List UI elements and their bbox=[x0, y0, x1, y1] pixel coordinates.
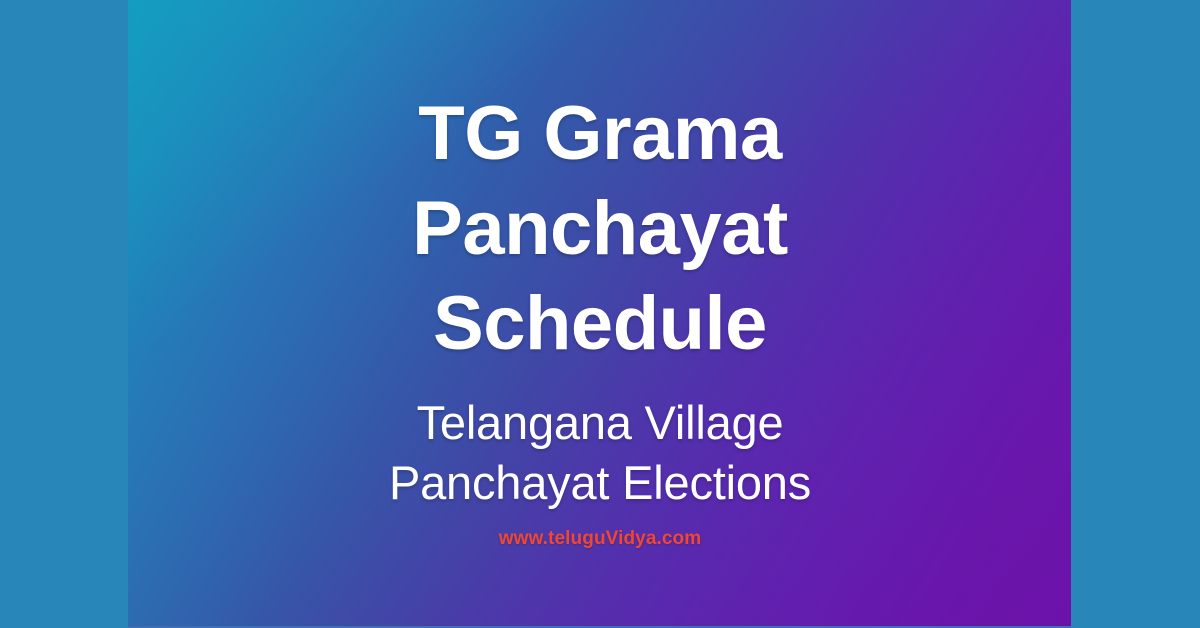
poster-canvas: TG Grama Panchayat Schedule Telangana Vi… bbox=[0, 0, 1200, 628]
subheadline-line-1: Telangana Village bbox=[0, 393, 1200, 453]
subheadline-line-2: Panchayat Elections bbox=[0, 453, 1200, 513]
headline-line-1: TG Grama bbox=[0, 86, 1200, 181]
poster-content: TG Grama Panchayat Schedule Telangana Vi… bbox=[0, 0, 1200, 628]
headline-line-2: Panchayat bbox=[0, 181, 1200, 276]
headline-line-3: Schedule bbox=[0, 276, 1200, 371]
site-url-text: www.teluguVidya.com bbox=[0, 527, 1200, 551]
headline: TG Grama Panchayat Schedule bbox=[0, 86, 1200, 371]
subheadline: Telangana Village Panchayat Elections bbox=[0, 393, 1200, 513]
